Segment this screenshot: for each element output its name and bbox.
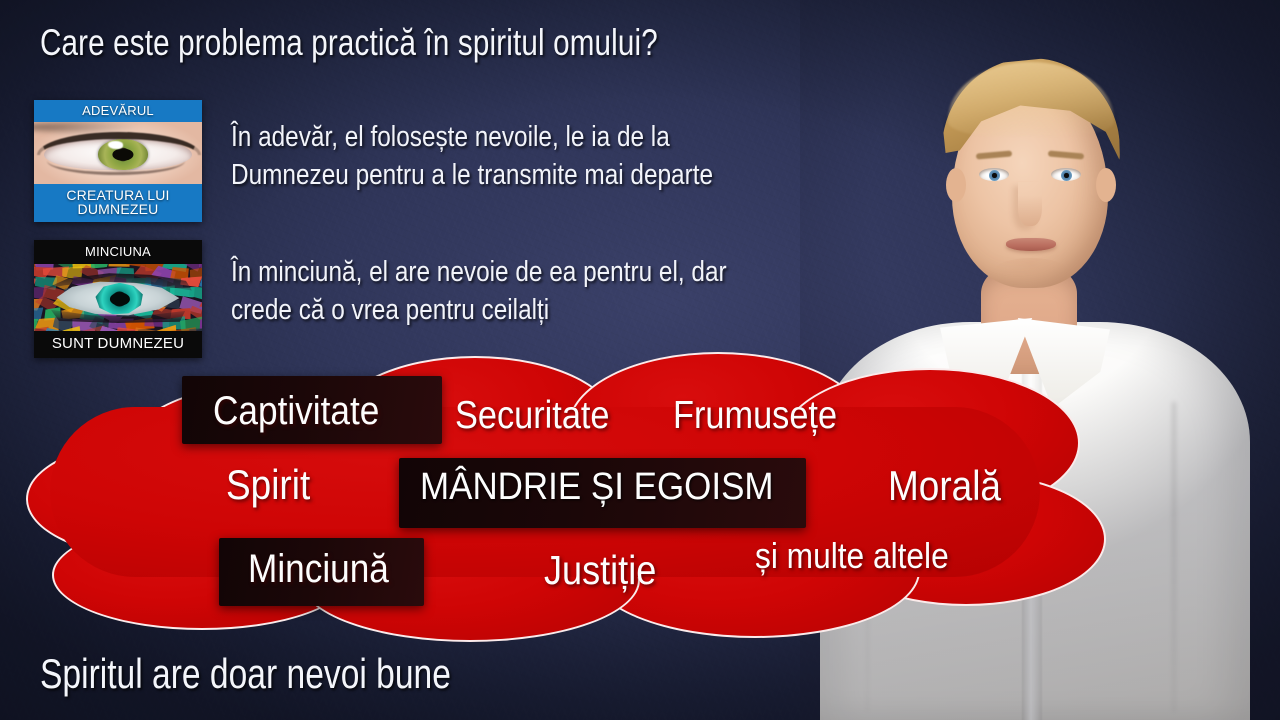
ear-right <box>1096 168 1116 202</box>
card-minciuna-bottom-label: SUNT DUMNEZEU <box>34 331 202 358</box>
paragraph-adevar: În adevăr, el folosește nevoile, le ia d… <box>231 118 713 194</box>
green-eye-icon <box>34 122 202 184</box>
paragraph-minciuna: În minciună, el are nevoie de ea pentru … <box>231 253 727 329</box>
paragraph-adevar-line2: Dumnezeu pentru a le transmite mai depar… <box>231 156 713 194</box>
paragraph-adevar-line1: În adevăr, el folosește nevoile, le ia d… <box>231 118 713 156</box>
iris-right <box>1061 170 1072 181</box>
slide-canvas: Care este problema practică în spiritul … <box>0 0 1280 720</box>
chin <box>992 258 1070 288</box>
page-footer: Spiritul are doar nevoi bune <box>40 650 451 698</box>
paragraph-minciuna-line2: crede că o vrea pentru ceilalți <box>231 291 727 329</box>
cloud-word-morala: Morală <box>888 465 1001 507</box>
cloud-word-minciuna: Minciună <box>248 549 389 589</box>
card-minciuna: MINCIUNA SUNT DUMNEZEU <box>34 240 202 358</box>
paragraph-minciuna-line1: În minciună, el are nevoie de ea pentru … <box>231 253 727 291</box>
ear-left <box>946 168 966 202</box>
cloud-word-frumusete: Frumusețe <box>673 396 837 435</box>
cloud-word-si-multe-altele: și multe altele <box>755 538 949 574</box>
card-adevarul-top-label: ADEVĂRUL <box>34 100 202 122</box>
cloud-word-spirit: Spirit <box>226 464 310 506</box>
cloud-word-justitie: Justiție <box>544 550 656 591</box>
mouth <box>1006 238 1056 251</box>
nose <box>1018 182 1042 226</box>
cloud-word-captivitate: Captivitate <box>213 391 379 431</box>
card-minciuna-top-label: MINCIUNA <box>34 240 202 264</box>
card-adevarul: ADEVĂRUL CREATURA LUI DUMNEZEU <box>34 100 202 222</box>
polygonal-eye-icon <box>34 264 202 331</box>
cloud-word-mandrie-si-egoism: MÂNDRIE ȘI EGOISM <box>420 468 774 506</box>
cloud-word-securitate: Securitate <box>455 396 610 435</box>
iris-left <box>989 170 1000 181</box>
hair-highlight <box>948 62 1114 136</box>
page-title: Care este problema practică în spiritul … <box>40 22 658 64</box>
shirt-fold-right <box>1172 402 1176 712</box>
card-adevarul-bottom-label: CREATURA LUI DUMNEZEU <box>34 184 202 222</box>
